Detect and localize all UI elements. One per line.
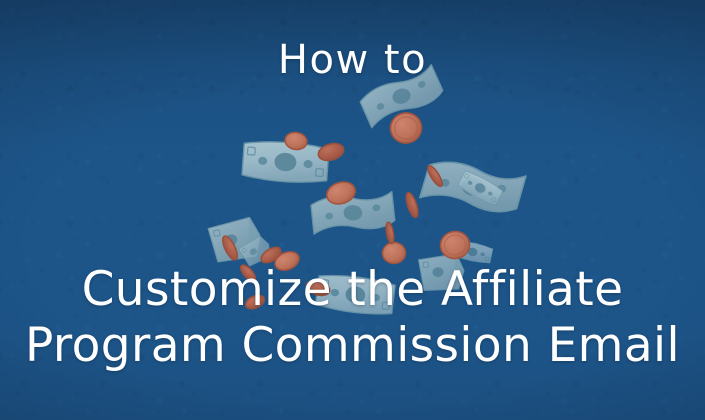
hero-title-line-2: Program Commission Email xyxy=(0,318,705,374)
hero-title-line-1: Customize the Affiliate xyxy=(0,262,705,318)
headline-group: How to Customize the Affiliate Program C… xyxy=(0,0,705,420)
hero-kicker: How to xyxy=(0,36,705,84)
hero-banner: How to Customize the Affiliate Program C… xyxy=(0,0,705,420)
